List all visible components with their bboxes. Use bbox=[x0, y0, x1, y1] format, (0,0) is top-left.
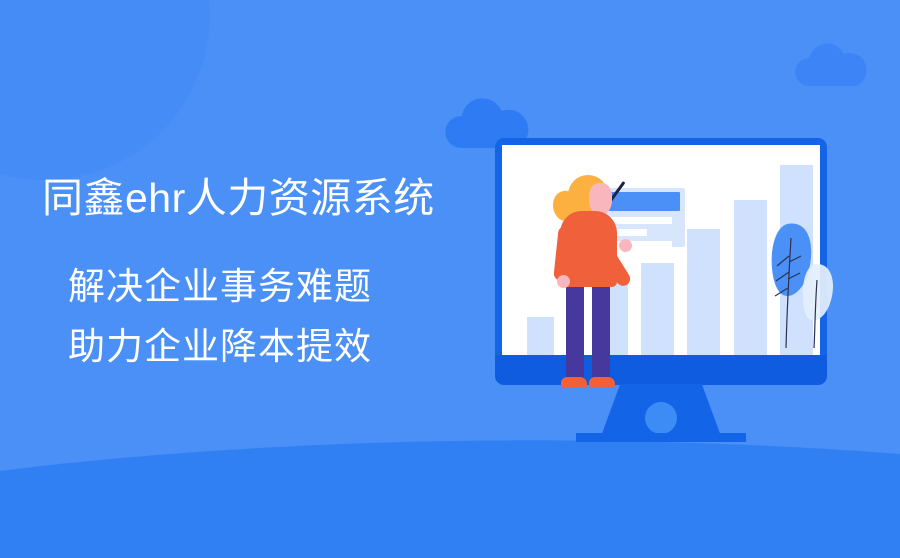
bar-chart-bar-4 bbox=[687, 229, 720, 355]
shoe-right bbox=[589, 377, 615, 388]
bar-chart-bar-3 bbox=[641, 263, 674, 355]
subtitle-line-1: 解决企业事务难题 bbox=[68, 266, 372, 307]
leg-left bbox=[566, 281, 584, 381]
presenter-figure bbox=[548, 171, 633, 396]
hand-left bbox=[557, 275, 570, 288]
monitor-base bbox=[576, 433, 746, 442]
plant-decoration-icon bbox=[765, 216, 843, 351]
business-analytics-illustration bbox=[455, 20, 900, 480]
subtitle-line-2: 助力企业降本提效 bbox=[68, 326, 372, 367]
leg-right bbox=[592, 281, 610, 381]
headline-block: 同鑫ehr人力资源系统 解决企业事务难题 助力企业降本提效 bbox=[0, 0, 470, 558]
monitor-bezel bbox=[495, 355, 827, 385]
bar-chart-bar-5 bbox=[734, 200, 767, 355]
shoe-left bbox=[561, 377, 587, 388]
monitor-stand-dot bbox=[645, 402, 677, 434]
page-title: 同鑫ehr人力资源系统 bbox=[42, 176, 435, 222]
banner-stage: 同鑫ehr人力资源系统 解决企业事务难题 助力企业降本提效 bbox=[0, 0, 900, 558]
hand-right bbox=[619, 239, 632, 252]
